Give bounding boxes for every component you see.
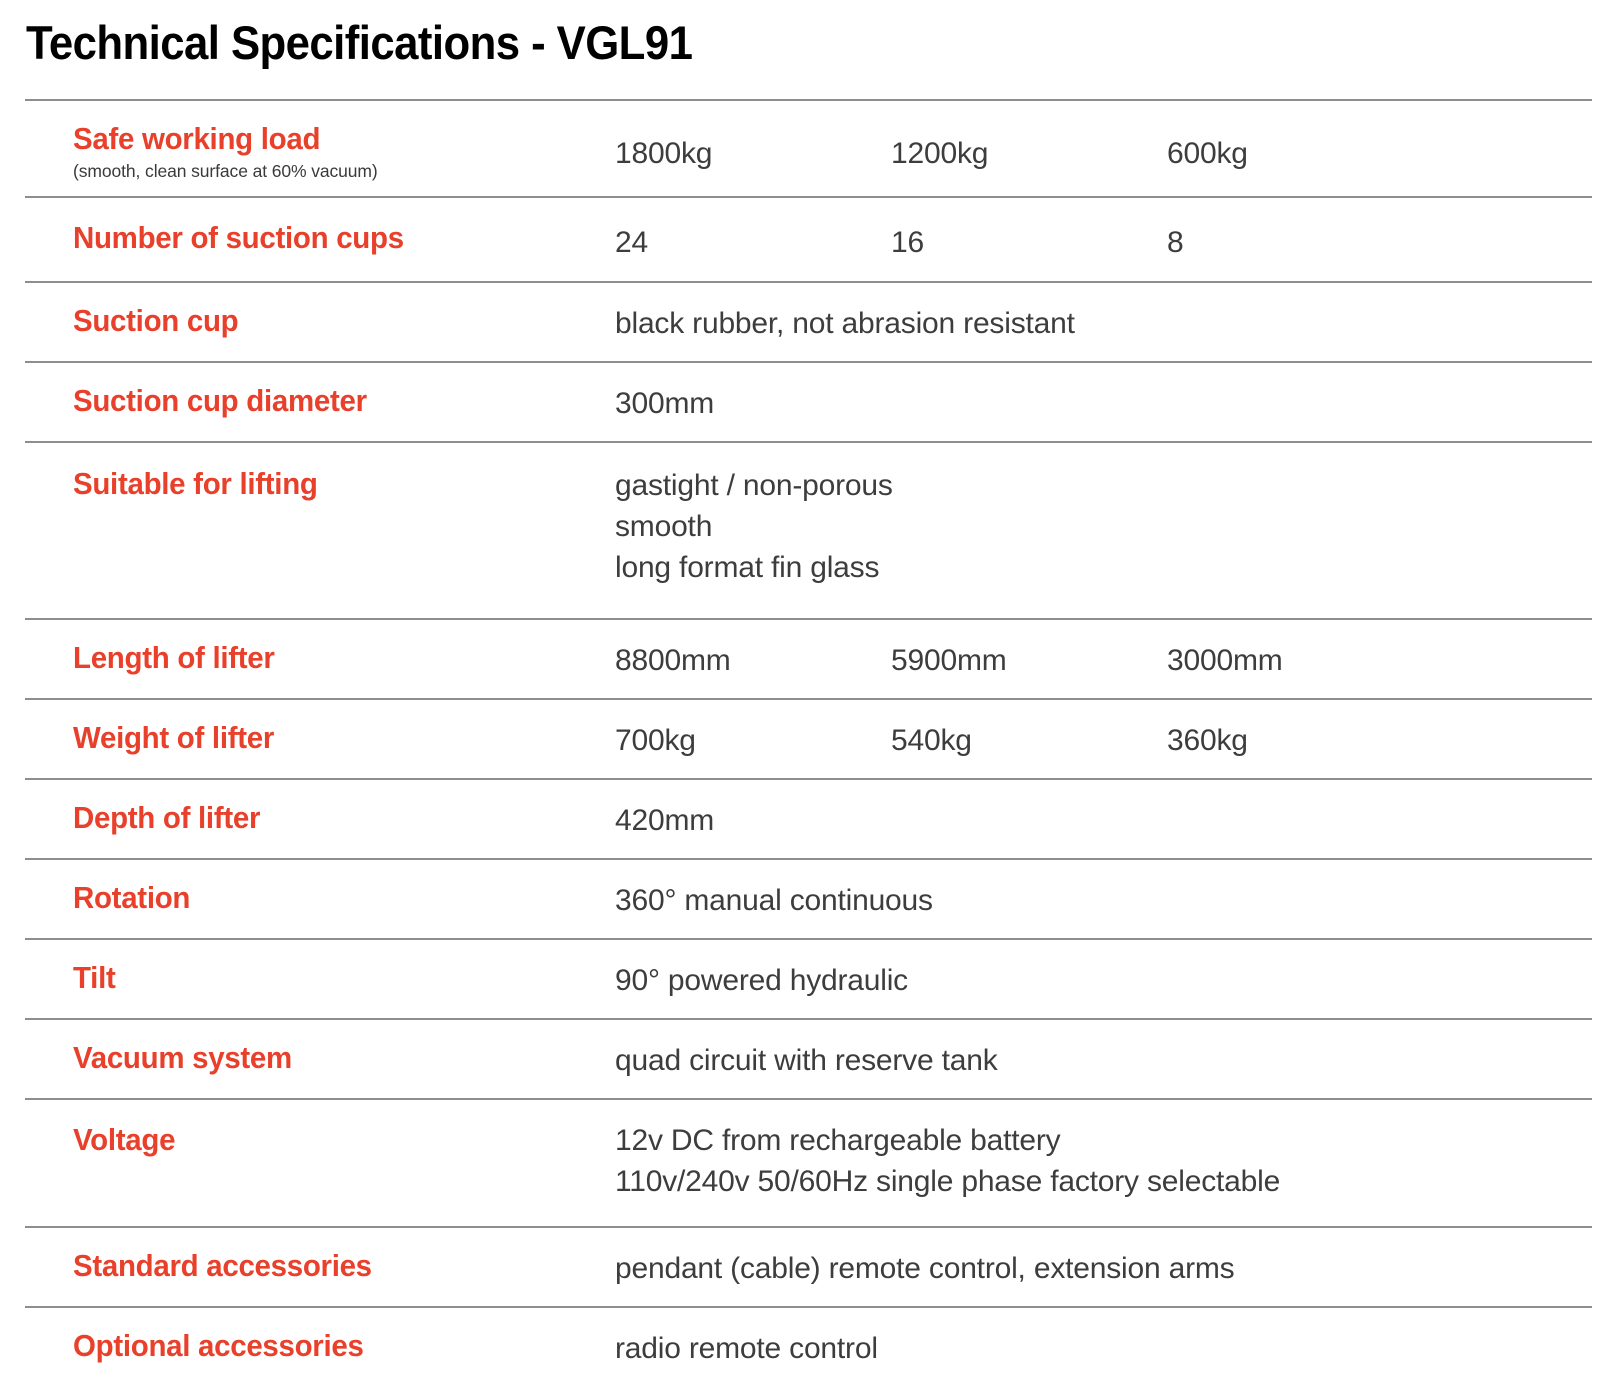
- table-row: Suction cup diameter 300mm: [25, 361, 1592, 441]
- value-line: radio remote control: [615, 1328, 1592, 1369]
- value-line: smooth: [615, 506, 1592, 547]
- table-row: Weight of lifter 700kg 540kg 360kg: [25, 698, 1592, 778]
- row-label-cell: Weight of lifter: [25, 700, 615, 773]
- row-label: Suction cup diameter: [73, 383, 588, 419]
- row-label-cell: Suitable for lifting: [25, 443, 615, 532]
- value-line: 300mm: [615, 383, 1592, 424]
- table-row: Vacuum system quad circuit with reserve …: [25, 1018, 1592, 1098]
- value-line: 360° manual continuous: [615, 880, 1592, 921]
- row-label-cell: Length of lifter: [25, 620, 615, 693]
- table-row: Suction cup black rubber, not abrasion r…: [25, 281, 1592, 361]
- row-value-cell: pendant (cable) remote control, extensio…: [615, 1228, 1592, 1306]
- row-value-cell: 1800kg 1200kg 600kg: [615, 101, 1592, 188]
- row-label: Suction cup: [73, 303, 588, 339]
- table-row: Standard accessories pendant (cable) rem…: [25, 1226, 1592, 1306]
- table-row: Rotation 360° manual continuous: [25, 858, 1592, 938]
- row-label-cell: Optional accessories: [25, 1308, 615, 1381]
- value-line: 12v DC from rechargeable battery: [615, 1120, 1592, 1161]
- value-column-3: 3000mm: [1167, 640, 1592, 681]
- row-value-cell: gastight / non-porous smooth long format…: [615, 443, 1592, 618]
- row-value-cell: 360° manual continuous: [615, 860, 1592, 938]
- value-column-1: 8800mm: [615, 640, 891, 681]
- row-label: Number of suction cups: [73, 220, 588, 256]
- row-label: Suitable for lifting: [73, 466, 588, 502]
- table-row: Tilt 90° powered hydraulic: [25, 938, 1592, 1018]
- specifications-table: Safe working load (smooth, clean surface…: [25, 99, 1592, 1386]
- table-row: Suitable for lifting gastight / non-poro…: [25, 441, 1592, 618]
- value-column-3: 600kg: [1167, 133, 1592, 174]
- value-line: quad circuit with reserve tank: [615, 1040, 1592, 1081]
- row-label: Depth of lifter: [73, 800, 588, 836]
- row-label: Safe working load: [73, 121, 588, 157]
- row-label-cell: Standard accessories: [25, 1228, 615, 1301]
- value-column-2: 1200kg: [891, 133, 1167, 174]
- row-label-cell: Suction cup: [25, 283, 615, 356]
- row-label-cell: Rotation: [25, 860, 615, 933]
- row-label: Rotation: [73, 880, 588, 916]
- row-label: Standard accessories: [73, 1248, 588, 1284]
- value-column-2: 5900mm: [891, 640, 1167, 681]
- value-column-1: 1800kg: [615, 133, 891, 174]
- row-value-cell: 8800mm 5900mm 3000mm: [615, 620, 1592, 698]
- value-line: 110v/240v 50/60Hz single phase factory s…: [615, 1161, 1592, 1202]
- row-label: Length of lifter: [73, 640, 588, 676]
- value-line: pendant (cable) remote control, extensio…: [615, 1248, 1592, 1289]
- table-row: Number of suction cups 24 16 8: [25, 196, 1592, 281]
- row-value-cell: black rubber, not abrasion resistant: [615, 283, 1592, 361]
- row-label: Tilt: [73, 960, 588, 996]
- value-line: long format fin glass: [615, 547, 1592, 588]
- spec-sheet-page: Technical Specifications - VGL91 Safe wo…: [0, 0, 1615, 1376]
- value-column-2: 16: [891, 222, 1167, 263]
- table-row: Safe working load (smooth, clean surface…: [25, 99, 1592, 196]
- row-value-cell: quad circuit with reserve tank: [615, 1020, 1592, 1098]
- row-label: Optional accessories: [73, 1328, 588, 1364]
- row-value-cell: 24 16 8: [615, 198, 1592, 281]
- row-value-cell: 12v DC from rechargeable battery 110v/24…: [615, 1100, 1592, 1226]
- row-value-cell: radio remote control: [615, 1308, 1592, 1386]
- table-row: Optional accessories radio remote contro…: [25, 1306, 1592, 1386]
- table-row: Length of lifter 8800mm 5900mm 3000mm: [25, 618, 1592, 698]
- value-column-1: 700kg: [615, 720, 891, 761]
- row-label-cell: Suction cup diameter: [25, 363, 615, 436]
- value-column-1: 24: [615, 222, 891, 263]
- value-column-3: 360kg: [1167, 720, 1592, 761]
- value-line: 90° powered hydraulic: [615, 960, 1592, 1001]
- value-line: gastight / non-porous: [615, 465, 1592, 506]
- value-column-2: 540kg: [891, 720, 1167, 761]
- value-column-3: 8: [1167, 222, 1592, 263]
- row-value-cell: 90° powered hydraulic: [615, 940, 1592, 1018]
- row-label-cell: Tilt: [25, 940, 615, 1013]
- row-label: Weight of lifter: [73, 720, 588, 756]
- table-row: Depth of lifter 420mm: [25, 778, 1592, 858]
- row-label: Voltage: [73, 1122, 588, 1158]
- value-line: black rubber, not abrasion resistant: [615, 303, 1592, 344]
- row-value-cell: 700kg 540kg 360kg: [615, 700, 1592, 778]
- row-sublabel: (smooth, clean surface at 60% vacuum): [73, 160, 615, 182]
- row-label-cell: Number of suction cups: [25, 198, 615, 274]
- row-label: Vacuum system: [73, 1040, 588, 1076]
- table-row: Voltage 12v DC from rechargeable battery…: [25, 1098, 1592, 1226]
- row-value-cell: 300mm: [615, 363, 1592, 441]
- row-label-cell: Voltage: [25, 1100, 615, 1182]
- row-value-cell: 420mm: [615, 780, 1592, 858]
- row-label-cell: Depth of lifter: [25, 780, 615, 853]
- value-line: 420mm: [615, 800, 1592, 841]
- row-label-cell: Vacuum system: [25, 1020, 615, 1093]
- page-title: Technical Specifications - VGL91: [26, 14, 692, 72]
- row-label-cell: Safe working load (smooth, clean surface…: [25, 101, 615, 196]
